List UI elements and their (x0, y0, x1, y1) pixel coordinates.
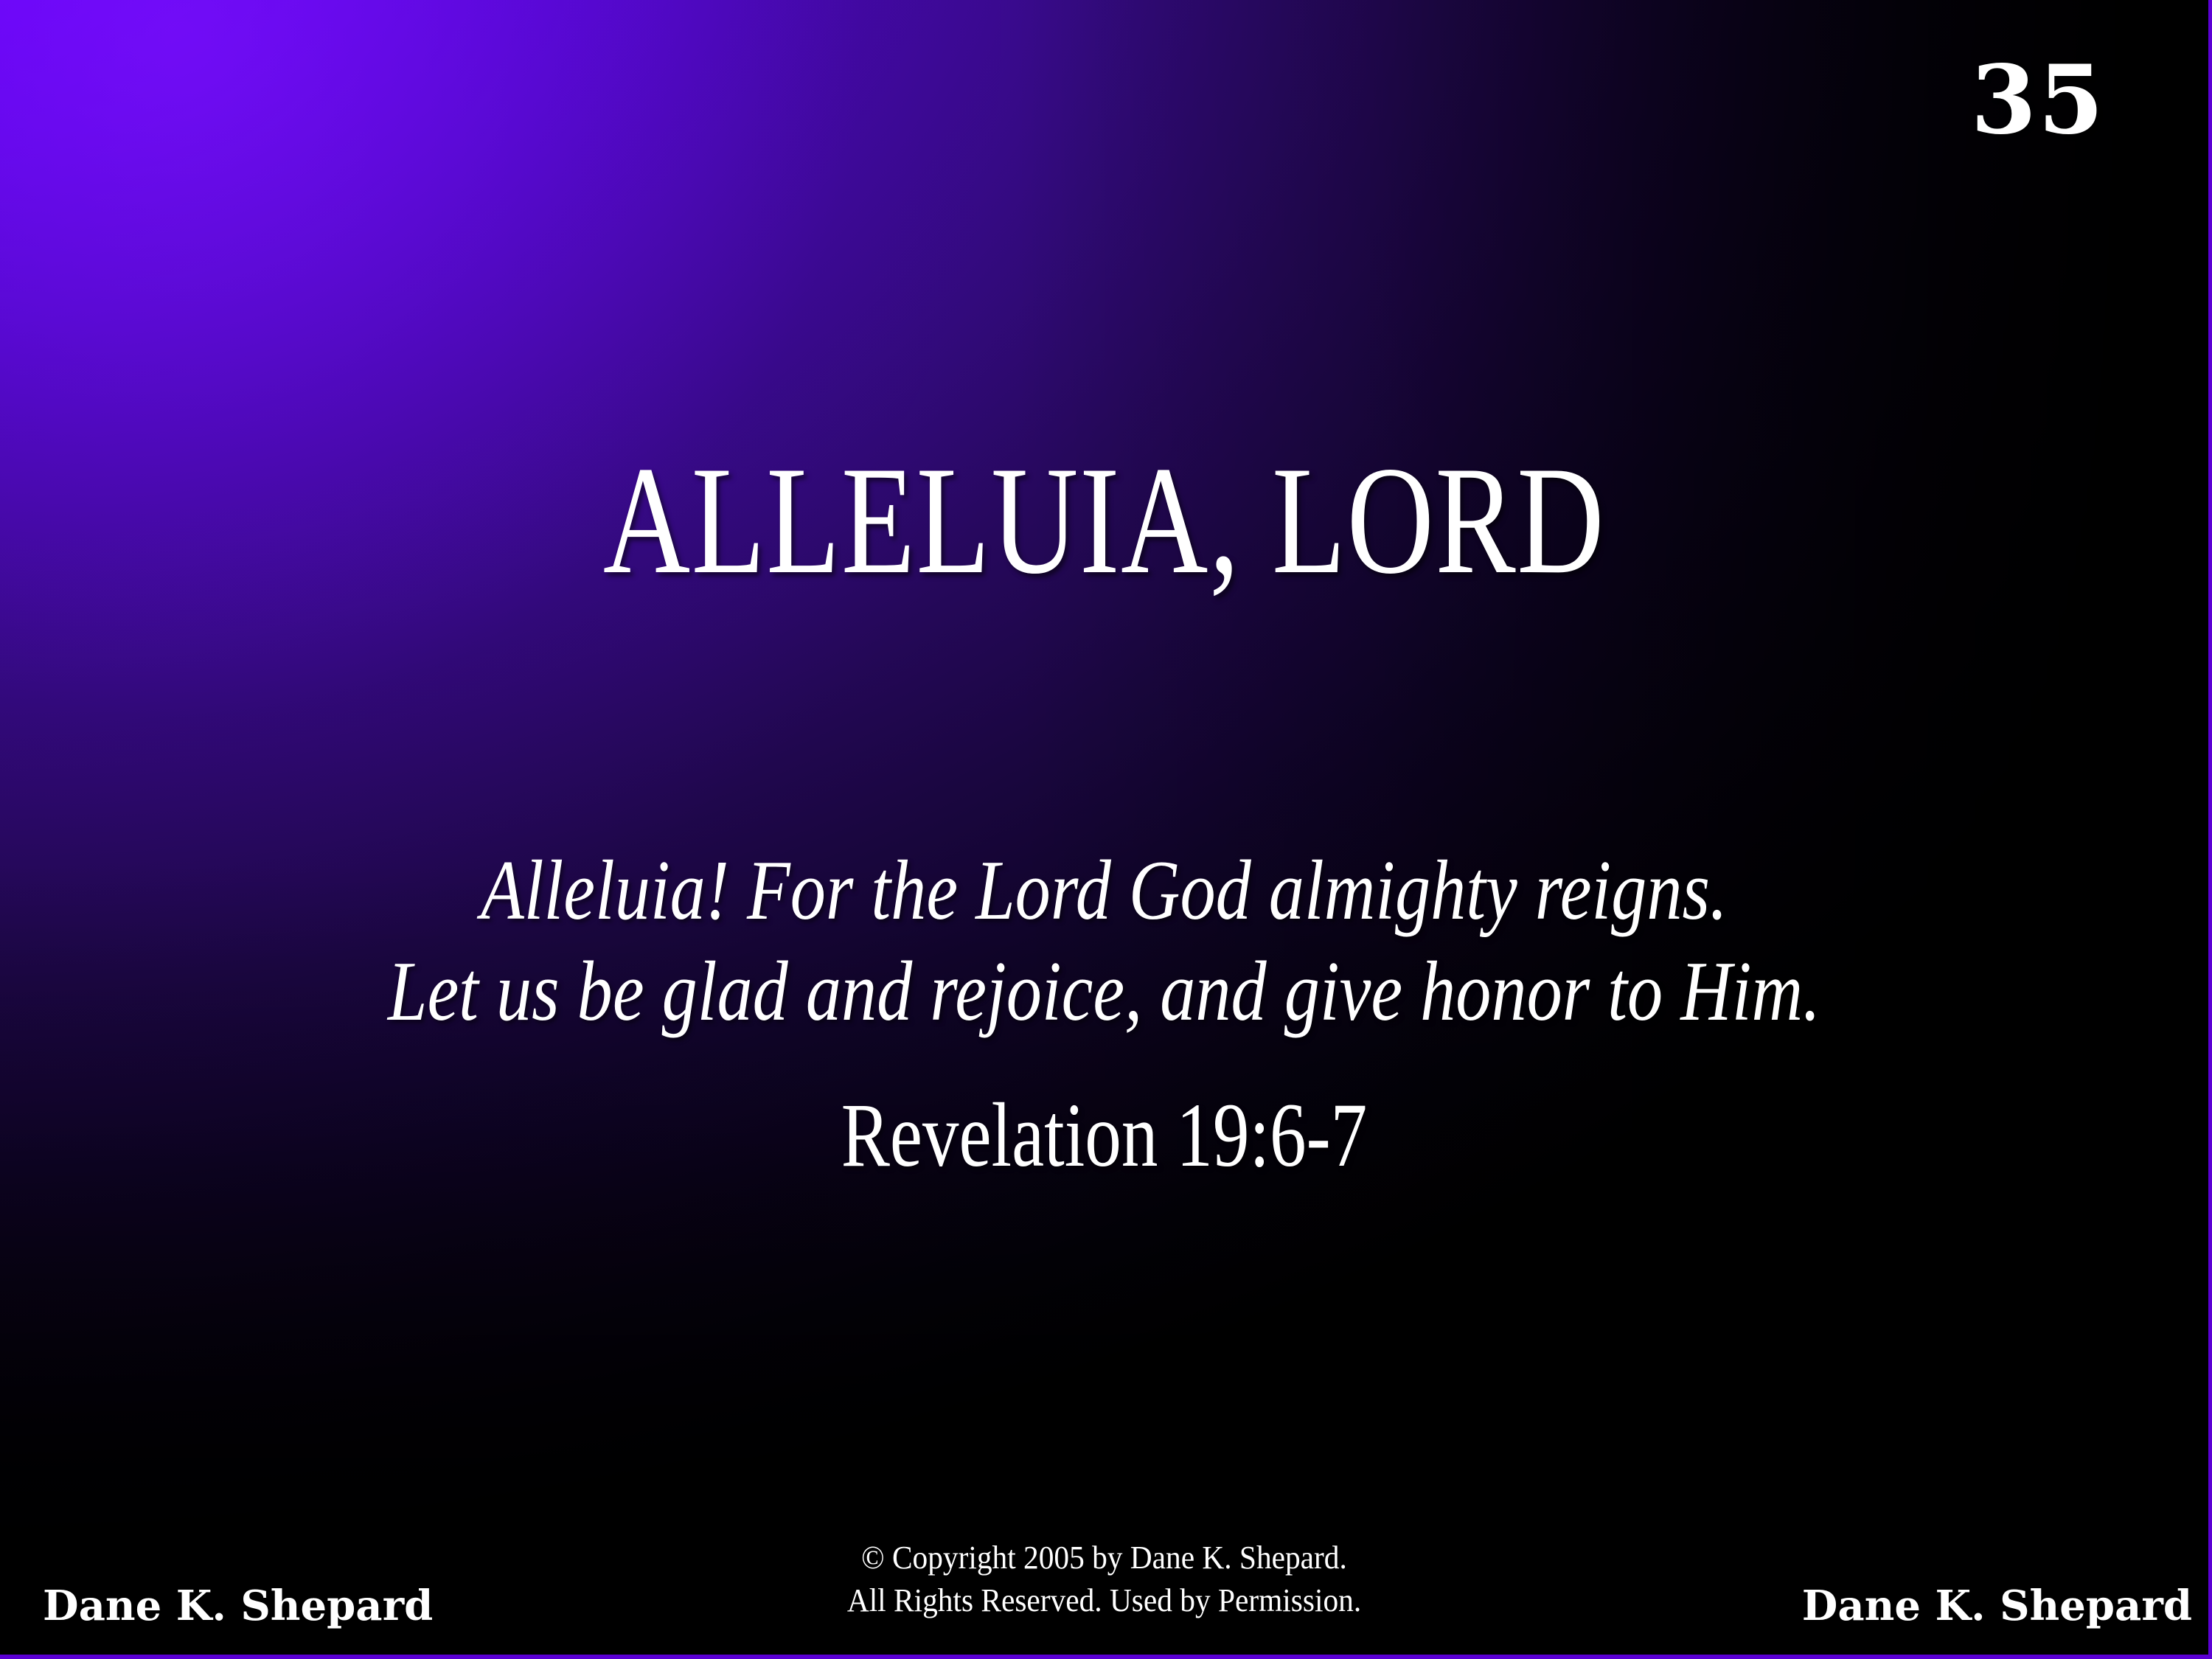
page-number: 35 (1971, 53, 2105, 147)
slide-content: 35 ALLELUIA, LORD Alleluia! For the Lord… (0, 0, 2208, 1655)
slide-title: ALLELUIA, LORD (243, 439, 1965, 603)
author-credit-left: Dane K. Shepard (43, 1584, 433, 1630)
presentation-slide: 35 ALLELUIA, LORD Alleluia! For the Lord… (0, 0, 2212, 1659)
author-credit-right: Dane K. Shepard (1802, 1584, 2192, 1630)
verse-line-1: Alleluia! For the Lord God almighty reig… (188, 841, 2021, 942)
verse-line-2: Let us be glad and rejoice, and give hon… (188, 942, 2021, 1043)
verse-text: Alleluia! For the Lord God almighty reig… (0, 841, 2208, 1043)
copyright-line-1: © Copyright 2005 by Dane K. Shepard. (66, 1537, 2142, 1579)
scripture-reference: Revelation 19:6-7 (221, 1085, 1988, 1186)
